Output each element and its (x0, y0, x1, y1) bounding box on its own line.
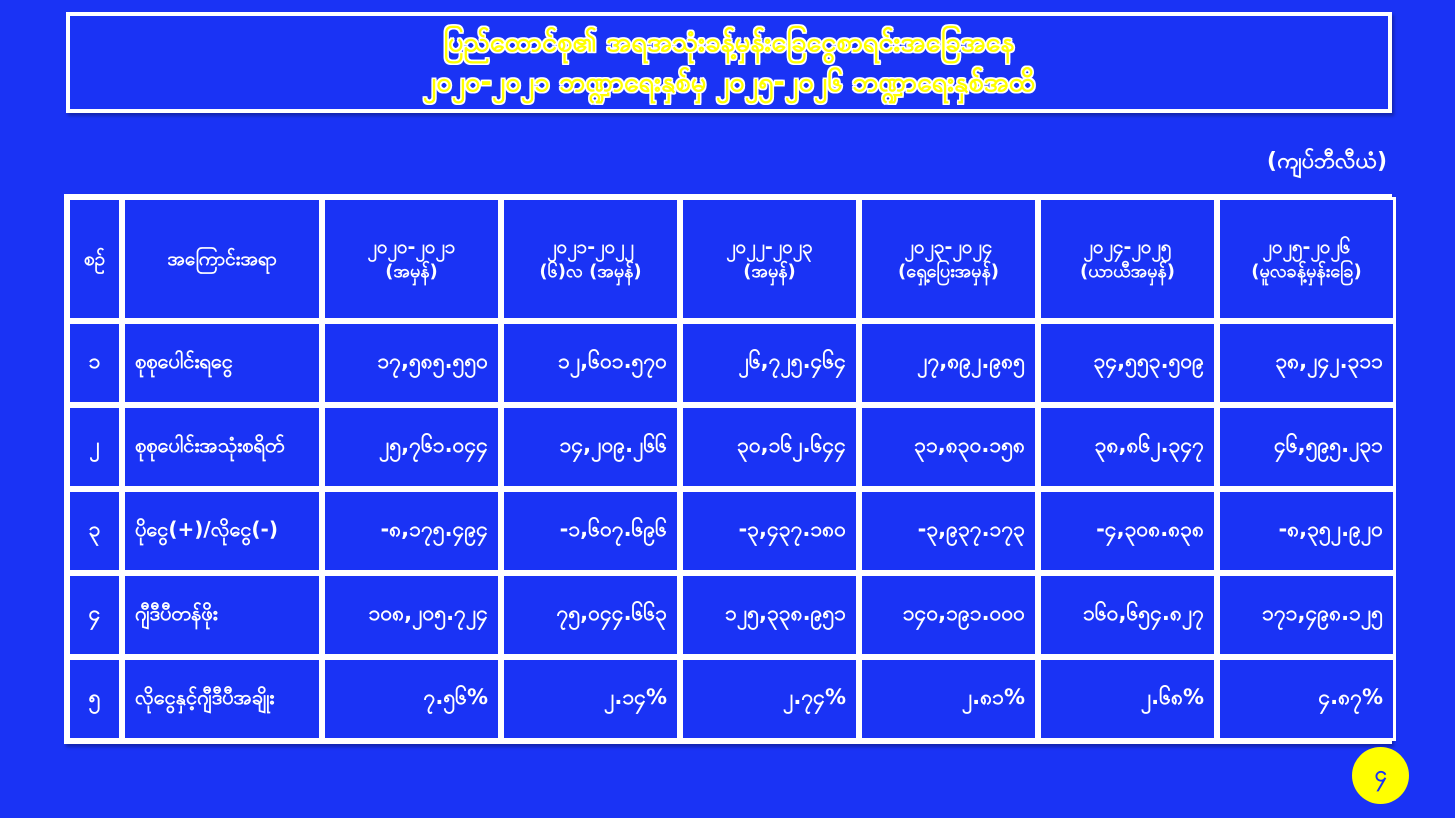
table-body: ၁ စုစုပေါင်းရငွေ ၁၇,၅၈၅.၅၅၀ ၁၂,၆၀၁.၅၇၀ ၂… (67, 321, 1396, 741)
cell-value: ၂.၈၁% (859, 657, 1038, 741)
title-line-1: ပြည်ထောင်စု၏ အရအသုံးခန့်မှန်းခြေငွေစာရင်… (443, 23, 1014, 62)
row-number: ၅ (67, 657, 122, 741)
header-main: ၂၀၂၄-၂၀၂၅ (1084, 236, 1172, 258)
cell-value: -၁,၆၀၇.၆၉၆ (501, 489, 680, 573)
header-main: ၂၀၂၀-၂၀၂၁ (368, 236, 456, 258)
row-label: ဂျီဒီပီတန်ဖိုး (122, 573, 322, 657)
header-main: ၂၀၂၁-၂၀၂၂ (547, 236, 634, 258)
cell-value: ၃၀,၁၆၂.၆၄၄ (680, 405, 859, 489)
cell-value: ၄.၈၇% (1217, 657, 1396, 741)
row-number: ၁ (67, 321, 122, 405)
header-main: အကြောင်းအရာ (167, 248, 276, 270)
cell-value: ၇၅,၀၄၄.၆၆၃ (501, 573, 680, 657)
row-number: ၄ (67, 573, 122, 657)
cell-value: -၈,၃၅၂.၉၂၀ (1217, 489, 1396, 573)
cell-value: -၃,၄၃၇.၁၈၀ (680, 489, 859, 573)
budget-table: စဉ် အကြောင်းအရာ ၂၀၂၀-၂၀၂၁ (အမှန်) ၂၀၂၁-၂… (67, 197, 1396, 741)
header-cell-fy-2022-2023: ၂၀၂၂-၂၀၂၃ (အမှန်) (680, 197, 859, 321)
cell-value: -၄,၃၀၈.၈၃၈ (1038, 489, 1217, 573)
cell-value: ၁၆၀,၆၅၄.၈၂၇ (1038, 573, 1217, 657)
header-cell-fy-2025-2026: ၂၀၂၅-၂၀၂၆ (မူလခန့်မှန်းခြေ) (1217, 197, 1396, 321)
header-main: ၂၀၂၃-၂၀၂၄ (905, 236, 993, 258)
cell-value: ၁၄,၂၀၉.၂၆၆ (501, 405, 680, 489)
cell-value: ၂၆,၇၂၅.၄၆၄ (680, 321, 859, 405)
header-cell-item: အကြောင်းအရာ (122, 197, 322, 321)
table-row: ၄ ဂျီဒီပီတန်ဖိုး ၁၀၈,၂၀၅.၇၂၄ ၇၅,၀၄၄.၆၆၃ … (67, 573, 1396, 657)
row-number: ၂ (67, 405, 122, 489)
header-cell-fy-2024-2025: ၂၀၂၄-၂၀၂၅ (ယာယီအမှန်) (1038, 197, 1217, 321)
cell-value: ၇.၅၆% (322, 657, 501, 741)
budget-table-container: စဉ် အကြောင်းအရာ ၂၀၂၀-၂၀၂၁ (အမှန်) ၂၀၂၁-၂… (64, 194, 1392, 744)
header-sub: (၆)လ (အမှန်) (514, 260, 667, 283)
table-header: စဉ် အကြောင်းအရာ ၂၀၂၀-၂၀၂၁ (အမှန်) ၂၀၂၁-၂… (67, 197, 1396, 321)
cell-value: ၁၀၈,၂၀၅.၇၂၄ (322, 573, 501, 657)
cell-value: ၄၆,၅၉၅.၂၃၁ (1217, 405, 1396, 489)
table-row: ၁ စုစုပေါင်းရငွေ ၁၇,၅၈၅.၅၅၀ ၁၂,၆၀၁.၅၇၀ ၂… (67, 321, 1396, 405)
header-sub: (အမှန်) (693, 260, 846, 283)
table-row: ၂ စုစုပေါင်းအသုံးစရိတ် ၂၅,၇၆၁.၀၄၄ ၁၄,၂၀၉… (67, 405, 1396, 489)
cell-value: ၂.၇၄% (680, 657, 859, 741)
title-line-2: ၂၀၂၀-၂၀၂၁ ဘဏ္ဍာရေးနှစ်မှ ၂၀၂၅-၂၀၂၆ ဘဏ္ဍာ… (423, 63, 1035, 102)
cell-value: ၃၁,၈၃၀.၁၅၈ (859, 405, 1038, 489)
unit-caption: (ကျပ်ဘီလီယံ) (1267, 146, 1387, 179)
cell-value: ၃၈,၂၄၂.၃၁၁ (1217, 321, 1396, 405)
cell-value: ၁၇၁,၄၉၈.၁၂၅ (1217, 573, 1396, 657)
cell-value: ၃၄,၅၅၃.၅၀၉ (1038, 321, 1217, 405)
cell-value: ၁၇,၅၈၅.၅၅၀ (322, 321, 501, 405)
row-label: လိုငွေနှင့်ဂျီဒီပီအချိုး (122, 657, 322, 741)
header-main: ၂၀၂၂-၂၀၂၃ (726, 236, 813, 258)
cell-value: ၂၅,၇၆၁.၀၄၄ (322, 405, 501, 489)
header-sub: (ယာယီအမှန်) (1051, 260, 1204, 283)
cell-value: ၁၂၅,၃၃၈.၉၅၁ (680, 573, 859, 657)
row-label: စုစုပေါင်းအသုံးစရိတ် (122, 405, 322, 489)
header-cell-fy-2021-2022: ၂၀၂၁-၂၀၂၂ (၆)လ (အမှန်) (501, 197, 680, 321)
header-cell-no: စဉ် (67, 197, 122, 321)
header-sub: (ရှေ့ပြေးအမှန်) (872, 260, 1025, 283)
row-label: ပိုငွေ(+)/လိုငွေ(-) (122, 489, 322, 573)
header-sub: (မူလခန့်မှန်းခြေ) (1230, 260, 1383, 283)
table-row: ၃ ပိုငွေ(+)/လိုငွေ(-) -၈,၁၇၅.၄၉၄ -၁,၆၀၇.… (67, 489, 1396, 573)
header-sub: (အမှန်) (335, 260, 488, 283)
cell-value: ၁၄၀,၁၉၁.၀၀၀ (859, 573, 1038, 657)
cell-value: ၂.၁၄% (501, 657, 680, 741)
title-banner: ပြည်ထောင်စု၏ အရအသုံးခန့်မှန်းခြေငွေစာရင်… (66, 12, 1392, 113)
header-cell-fy-2020-2021: ၂၀၂၀-၂၀၂၁ (အမှန်) (322, 197, 501, 321)
cell-value: -၈,၁၇၅.၄၉၄ (322, 489, 501, 573)
cell-value: ၂.၆၈% (1038, 657, 1217, 741)
page-number-badge: ၄ (1352, 747, 1409, 804)
cell-value: ၁၂,၆၀၁.၅၇၀ (501, 321, 680, 405)
row-label: စုစုပေါင်းရငွေ (122, 321, 322, 405)
header-row: စဉ် အကြောင်းအရာ ၂၀၂၀-၂၀၂၁ (အမှန်) ၂၀၂၁-၂… (67, 197, 1396, 321)
header-cell-fy-2023-2024: ၂၀၂၃-၂၀၂၄ (ရှေ့ပြေးအမှန်) (859, 197, 1038, 321)
cell-value: -၃,၉၃၇.၁၇၃ (859, 489, 1038, 573)
header-main: ၂၀၂၅-၂၀၂၆ (1263, 236, 1351, 258)
table-row: ၅ လိုငွေနှင့်ဂျီဒီပီအချိုး ၇.၅၆% ၂.၁၄% ၂… (67, 657, 1396, 741)
cell-value: ၂၇,၈၉၂.၉၈၅ (859, 321, 1038, 405)
cell-value: ၃၈,၈၆၂.၃၄၇ (1038, 405, 1217, 489)
row-number: ၃ (67, 489, 122, 573)
header-main: စဉ် (84, 248, 105, 270)
